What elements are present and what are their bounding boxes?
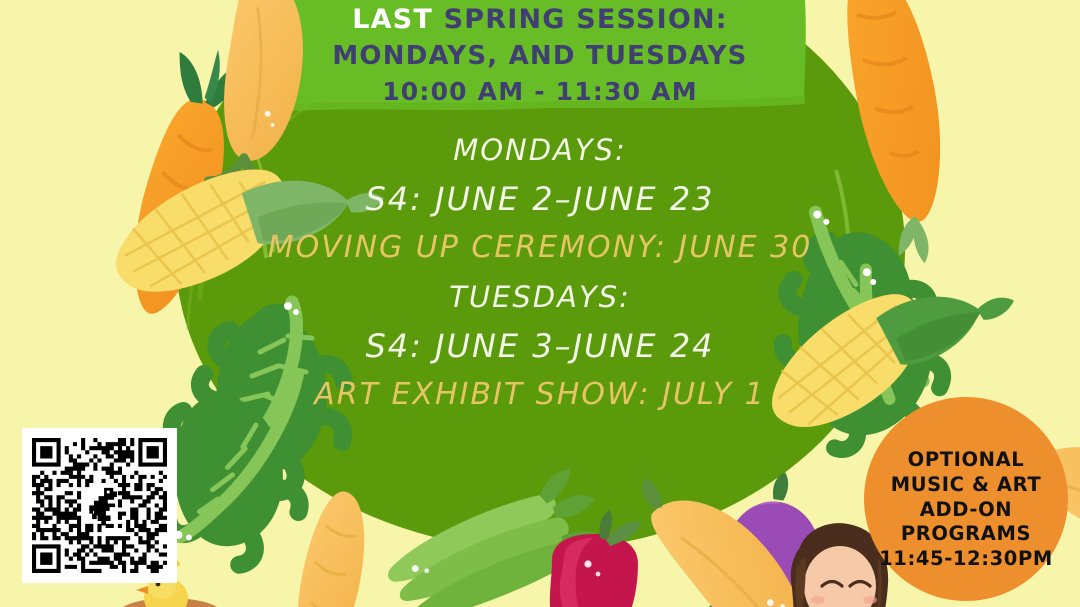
qr-code[interactable] bbox=[22, 428, 177, 583]
session-dates: S4: JUNE 3–JUNE 24 bbox=[0, 330, 1080, 362]
badge-line-5: 11:45-12:30PM bbox=[879, 547, 1053, 572]
badge-line-1: OPTIONAL bbox=[908, 448, 1025, 473]
session-note: MOVING UP CEREMONY: JUNE 30 bbox=[0, 233, 1080, 263]
session-dates: S4: JUNE 2–JUNE 23 bbox=[0, 183, 1080, 215]
session-title: MONDAYS: bbox=[0, 136, 1080, 165]
badge-line-3: ADD-ON bbox=[920, 498, 1012, 523]
session-block-mondays: MONDAYS: S4: JUNE 2–JUNE 23 MOVING UP CE… bbox=[0, 136, 1080, 263]
header-banner-shape bbox=[290, 0, 806, 111]
qr-code-image[interactable] bbox=[22, 428, 177, 583]
poster-canvas: LAST SPRING SESSION: MONDAYS, AND TUESDA… bbox=[0, 0, 1080, 607]
session-title: TUESDAYS: bbox=[0, 283, 1080, 312]
optional-programs-badge: OPTIONAL MUSIC & ART ADD-ON PROGRAMS 11:… bbox=[864, 397, 1068, 601]
session-block-tuesdays: TUESDAYS: S4: JUNE 3–JUNE 24 ART EXHIBIT… bbox=[0, 283, 1080, 410]
badge-line-2: MUSIC & ART bbox=[891, 473, 1042, 498]
badge-line-4: PROGRAMS bbox=[901, 522, 1031, 547]
session-note: ART EXHIBIT SHOW: JULY 1 bbox=[0, 380, 1080, 410]
